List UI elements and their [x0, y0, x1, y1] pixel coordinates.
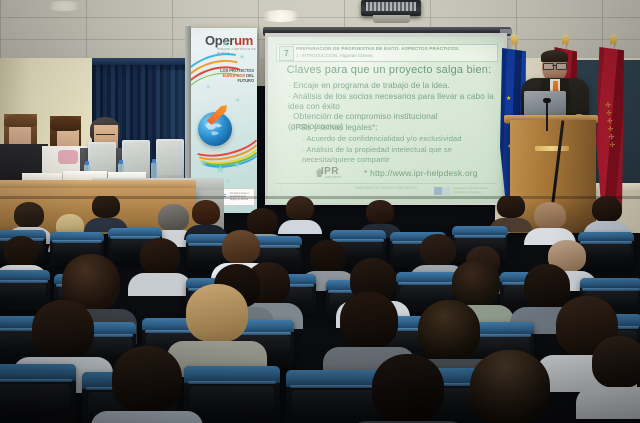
- audience-person: [32, 300, 94, 358]
- audience-person: [340, 292, 398, 348]
- seat-top-trim: [580, 278, 640, 288]
- audience-head: [192, 200, 220, 225]
- seat-sheen: [292, 390, 376, 416]
- seat-top-trim: [396, 272, 458, 282]
- institution-flag: ✣✢✣✢✣✢: [596, 47, 624, 212]
- projector-vent: [366, 2, 416, 11]
- seat-rim: [290, 385, 378, 388]
- audience-seating: [0, 196, 640, 423]
- seat-rim: [188, 381, 276, 384]
- seat-sheen: [400, 285, 455, 301]
- seat-sheen: [0, 384, 70, 410]
- auditorium-presentation-photo: 7 PREPARACIÓN DE PROPUESTAS DE ÉXITO. AS…: [0, 0, 640, 423]
- audience-person: [186, 284, 248, 342]
- ipr-helpdesk-logo: IPR helpdesk: [316, 166, 360, 180]
- audience-person: [310, 240, 346, 272]
- seat-top-trim: [578, 232, 634, 241]
- audience-head: [366, 200, 394, 224]
- slide-title: Claves para que un proyecto salga bien:: [284, 64, 494, 76]
- seat-rim: [0, 379, 72, 382]
- panelist-glasses-icon: [96, 134, 115, 139]
- monitor-screen: [158, 141, 182, 175]
- seat-top-trim: [452, 226, 508, 235]
- slide-bullet: Encaje en programa de trabajo de la idea…: [288, 81, 494, 91]
- seat-sheen: [0, 283, 46, 299]
- curtain-rail: [92, 58, 195, 65]
- star-icon: ★: [235, 98, 240, 105]
- audience-head: [186, 284, 248, 342]
- star-icon: ★: [205, 84, 211, 91]
- operum-logo-main: Oper: [205, 33, 234, 48]
- ceiling-light-icon: [258, 10, 304, 22]
- microphone-head-icon: [543, 98, 551, 103]
- operum-logo-accent: um: [234, 33, 253, 48]
- seat-top-trim: [330, 230, 386, 239]
- audience-person: [222, 230, 260, 264]
- slide-header-bar: 7 PREPARACIÓN DE PROPUESTAS DE ÉXITO. AS…: [276, 44, 498, 62]
- slide-header-line-1: PREPARACIÓN DE PROPUESTAS DE ÉXITO. ASPE…: [296, 46, 460, 51]
- projector-mount: [373, 15, 410, 23]
- monitor-screen: [124, 142, 148, 175]
- seat-top-trim: [286, 370, 382, 387]
- star-icon: ★: [239, 54, 245, 61]
- institution-emblem-icon: ✣✢✣✢✣✢: [600, 101, 622, 162]
- speaker-hair: [541, 50, 568, 62]
- audience-person: [420, 234, 456, 266]
- audience-shoulders: [576, 387, 640, 419]
- audience-head: [470, 350, 550, 423]
- audience-person: [4, 236, 38, 266]
- audience-person: [592, 336, 640, 388]
- seat-top-trim: [0, 364, 76, 381]
- audience-head: [310, 240, 346, 272]
- audience-head: [14, 202, 44, 228]
- star-icon: ★: [233, 162, 241, 169]
- audience-head: [592, 336, 640, 388]
- slide-sub-bullet: Análisis de la propiedad intelectual que…: [302, 145, 494, 164]
- audience-person: [470, 350, 550, 423]
- audience-person: [92, 196, 120, 218]
- audience-head: [420, 234, 456, 266]
- audience-seat[interactable]: [286, 370, 382, 423]
- audience-person: [112, 346, 182, 412]
- audience-head: [92, 196, 120, 218]
- audience-person: [192, 200, 220, 225]
- audience-person: [534, 202, 566, 229]
- podium-emblem-icon: [535, 146, 569, 151]
- audience-head: [534, 202, 566, 229]
- seat-sheen: [581, 244, 630, 258]
- speaker-glasses-bridge: [552, 65, 557, 66]
- panelist-fringe: [50, 116, 81, 131]
- audience-seat[interactable]: [0, 364, 76, 423]
- audience-head: [592, 196, 622, 222]
- audience-head: [340, 292, 398, 348]
- presentation-slide: 7 PREPARACIÓN DE PROPUESTAS DE ÉXITO. AS…: [272, 40, 500, 200]
- audience-head: [4, 236, 38, 266]
- slide-footer-logo-icon: [434, 187, 450, 195]
- speaker-glasses-icon: [556, 63, 567, 70]
- audience-head: [32, 300, 94, 358]
- slide-url-text: * http://www.ipr-helpdesk.org: [364, 168, 478, 178]
- panelist-fringe: [4, 114, 37, 127]
- seat-top-trim: [184, 366, 280, 383]
- slide-bullet: Análisis de los socios necesarios para l…: [288, 92, 494, 111]
- audience-person: [497, 196, 525, 218]
- star-icon: ★: [215, 166, 226, 173]
- audience-seat[interactable]: [578, 232, 634, 268]
- eu-star-icon: ★: [506, 96, 511, 102]
- slide-link-row: IPR helpdesk * http://www.ipr-helpdesk.o…: [316, 165, 496, 181]
- seat-sheen: [190, 386, 274, 412]
- panelist-scarf: [58, 150, 78, 164]
- audience-person: [158, 204, 189, 231]
- audience-head: [158, 204, 189, 231]
- ipr-logo-subtext: helpdesk: [325, 175, 341, 179]
- audience-person: [286, 196, 314, 220]
- slide-number-badge: 7: [279, 46, 294, 61]
- audience-head: [112, 346, 182, 412]
- star-icon: ★: [225, 178, 231, 185]
- slide-header-line-2: 1. INTRODUCCIÓN. Algunas Claves.: [296, 53, 374, 58]
- star-icon: ★: [199, 160, 208, 167]
- audience-shoulders: [128, 273, 192, 295]
- audience-seat[interactable]: [184, 366, 280, 423]
- seat-top-trim: [0, 270, 50, 280]
- audience-head: [140, 238, 180, 274]
- audience-head: [222, 230, 260, 264]
- audience-person: [366, 200, 394, 224]
- audience-shoulders: [278, 220, 323, 235]
- audience-head: [497, 196, 525, 218]
- slide-footer-right-text: Consejería de Educación, Formación y Emp…: [453, 186, 497, 195]
- panel-monitor: [156, 139, 184, 180]
- slide-footer-center-text: MINISTERIO DE CIENCIA E INNOVACIÓN: [346, 186, 426, 190]
- slide-page-number: 7: [280, 187, 282, 191]
- audience-head: [286, 196, 314, 220]
- audience-person: [140, 238, 180, 274]
- projector-icon: [361, 0, 421, 22]
- audience-shoulders: [91, 411, 203, 423]
- water-bottle: [151, 162, 157, 178]
- slide-bullet: IPRs y temas legales*:: [288, 123, 494, 133]
- star-icon: ★: [221, 40, 229, 47]
- audience-person: [14, 202, 44, 228]
- audience-person: [592, 196, 622, 222]
- slide-sub-bullet: Acuerdo de confidencialidad y/o exclusiv…: [302, 134, 494, 144]
- audience-head: [372, 354, 444, 422]
- podium-microphone: [546, 101, 548, 131]
- audience-person: [372, 354, 444, 422]
- ceiling-light-icon: [44, 1, 84, 11]
